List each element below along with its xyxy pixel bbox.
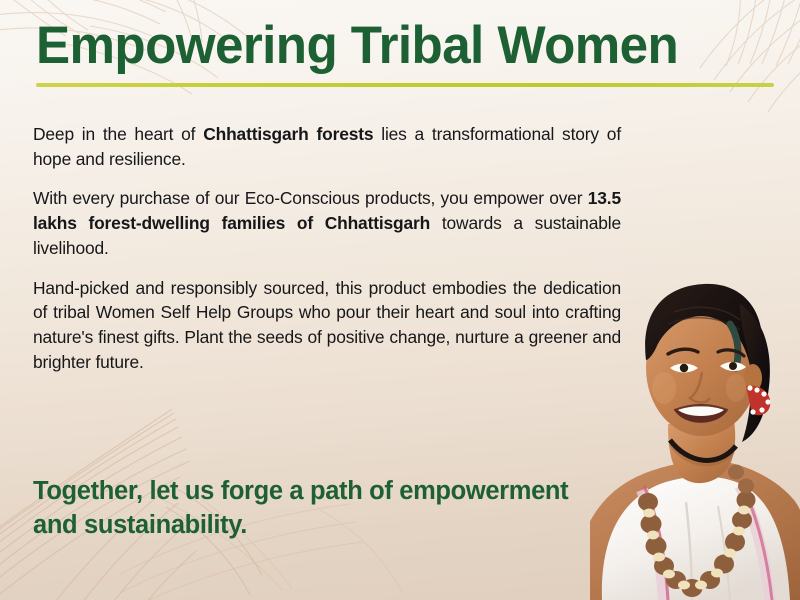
title-block: Empowering Tribal Women [36, 18, 770, 87]
p1-run-1: Deep in the heart of [33, 124, 203, 144]
paragraph-2: With every purchase of our Eco-Conscious… [33, 186, 621, 260]
p3-run-1: Hand-picked and responsibly sourced, thi… [33, 278, 621, 372]
page-title: Empowering Tribal Women [36, 18, 744, 74]
paragraph-1: Deep in the heart of Chhattisgarh forest… [33, 122, 621, 171]
poster-canvas: Empowering Tribal Women [0, 0, 800, 600]
p2-run-1: With every purchase of our Eco-Conscious… [33, 188, 588, 208]
body-copy: Deep in the heart of Chhattisgarh forest… [33, 122, 755, 389]
closing-statement: Together, let us forge a path of empower… [33, 475, 593, 543]
p1-run-2-bold: Chhattisgarh forests [203, 124, 373, 144]
title-underline-rule [36, 83, 774, 87]
paragraph-3: Hand-picked and responsibly sourced, thi… [33, 276, 621, 375]
